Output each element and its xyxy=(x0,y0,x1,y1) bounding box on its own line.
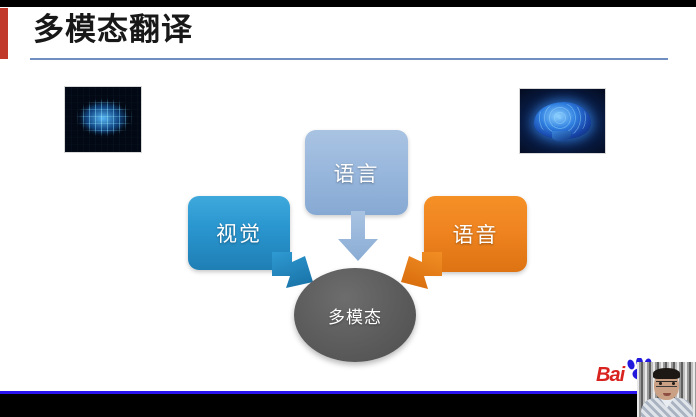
node-language[interactable]: 语言 xyxy=(305,130,408,215)
arrow-language-to-multimodal xyxy=(330,211,386,263)
node-language-label: 语言 xyxy=(334,158,380,188)
glowing-brain-image xyxy=(519,88,606,154)
webcam-presenter-eye-right xyxy=(672,382,675,385)
slide-canvas: 多模态翻译 xyxy=(0,0,696,417)
node-speech-label: 语音 xyxy=(453,219,499,249)
letterbox-bar-bottom xyxy=(0,394,696,417)
presenter-webcam-thumbnail[interactable] xyxy=(637,362,696,417)
circuit-brain-vignette xyxy=(65,87,141,152)
letterbox-bar-top xyxy=(0,0,696,7)
baidu-logo-latin: Bai xyxy=(596,365,624,385)
webcam-presenter-eye-left xyxy=(659,382,662,385)
glowing-brain-art xyxy=(520,89,605,153)
node-vision-label: 视觉 xyxy=(216,218,262,248)
title-underline xyxy=(30,58,668,60)
webcam-presenter-hair xyxy=(653,368,680,379)
node-multimodal-label: 多模态 xyxy=(328,303,382,328)
circuit-board-brain-image xyxy=(64,86,142,153)
node-multimodal[interactable]: 多模态 xyxy=(294,268,416,362)
circuit-brain-art xyxy=(65,87,141,152)
page-title: 多模态翻译 xyxy=(33,9,193,51)
title-accent-bar xyxy=(0,8,8,59)
